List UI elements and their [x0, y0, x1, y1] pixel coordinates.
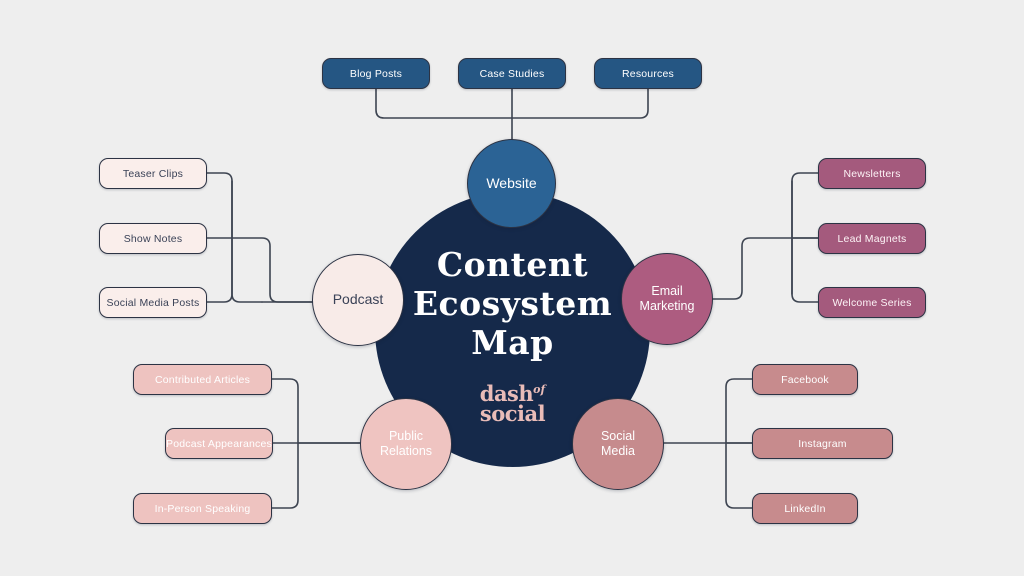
leaf-welcome-series-label: Welcome Series: [832, 297, 911, 309]
social-label-line-2: Media: [601, 444, 635, 458]
leaf-resources[interactable]: Resources: [594, 58, 702, 89]
email-label-line-1: Email: [651, 284, 682, 298]
branch-node-social-media-label: Social Media: [601, 429, 635, 460]
leaf-linkedin[interactable]: LinkedIn: [752, 493, 858, 524]
leaf-lead-magnets-label: Lead Magnets: [838, 233, 907, 245]
branch-node-website-label: Website: [486, 175, 536, 192]
wire-blog-posts: [376, 88, 512, 118]
leaf-social-media-posts[interactable]: Social Media Posts: [99, 287, 207, 318]
leaf-facebook[interactable]: Facebook: [752, 364, 858, 395]
branch-node-social-media[interactable]: Social Media: [572, 398, 664, 490]
leaf-podcast-appearances-label: Podcast Appearances: [166, 438, 272, 450]
pr-label-line-2: Relations: [380, 444, 432, 458]
branch-node-podcast-label: Podcast: [333, 291, 384, 308]
leaf-newsletters-label: Newsletters: [843, 168, 900, 180]
pr-label-line-1: Public: [389, 429, 423, 443]
wire-social-media-posts: [207, 181, 232, 302]
leaf-instagram[interactable]: Instagram: [752, 428, 893, 459]
wire-email-stem: [712, 238, 818, 299]
branch-node-email-marketing[interactable]: Email Marketing: [621, 253, 713, 345]
leaf-in-person-speaking-label: In-Person Speaking: [155, 503, 251, 515]
leaf-podcast-appearances[interactable]: Podcast Appearances: [165, 428, 273, 459]
wire-resources: [512, 88, 648, 118]
leaf-instagram-label: Instagram: [798, 438, 847, 450]
leaf-welcome-series[interactable]: Welcome Series: [818, 287, 926, 318]
leaf-show-notes-label: Show Notes: [124, 233, 183, 245]
leaf-teaser-clips[interactable]: Teaser Clips: [99, 158, 207, 189]
social-label-line-1: Social: [601, 429, 635, 443]
leaf-blog-posts[interactable]: Blog Posts: [322, 58, 430, 89]
leaf-lead-magnets[interactable]: Lead Magnets: [818, 223, 926, 254]
branch-node-public-relations-label: Public Relations: [380, 429, 432, 460]
branch-node-email-marketing-label: Email Marketing: [640, 284, 695, 315]
branch-node-website[interactable]: Website: [467, 139, 556, 228]
leaf-facebook-label: Facebook: [781, 374, 829, 386]
leaf-newsletters[interactable]: Newsletters: [818, 158, 926, 189]
leaf-blog-posts-label: Blog Posts: [350, 68, 402, 80]
mind-map-canvas: Content Ecosystem Map dashof social Webs…: [0, 0, 1024, 576]
leaf-case-studies-label: Case Studies: [480, 68, 545, 80]
leaf-contributed-articles[interactable]: Contributed Articles: [133, 364, 272, 395]
leaf-case-studies[interactable]: Case Studies: [458, 58, 566, 89]
branch-node-public-relations[interactable]: Public Relations: [360, 398, 452, 490]
email-label-line-2: Marketing: [640, 299, 695, 313]
wire-show-notes: [207, 238, 312, 302]
leaf-contributed-articles-label: Contributed Articles: [155, 374, 250, 386]
leaf-linkedin-label: LinkedIn: [784, 503, 825, 515]
branch-node-podcast[interactable]: Podcast: [312, 254, 404, 346]
leaf-social-media-posts-label: Social Media Posts: [107, 297, 200, 309]
leaf-resources-label: Resources: [622, 68, 674, 80]
leaf-show-notes[interactable]: Show Notes: [99, 223, 207, 254]
leaf-in-person-speaking[interactable]: In-Person Speaking: [133, 493, 272, 524]
leaf-teaser-clips-label: Teaser Clips: [123, 168, 183, 180]
